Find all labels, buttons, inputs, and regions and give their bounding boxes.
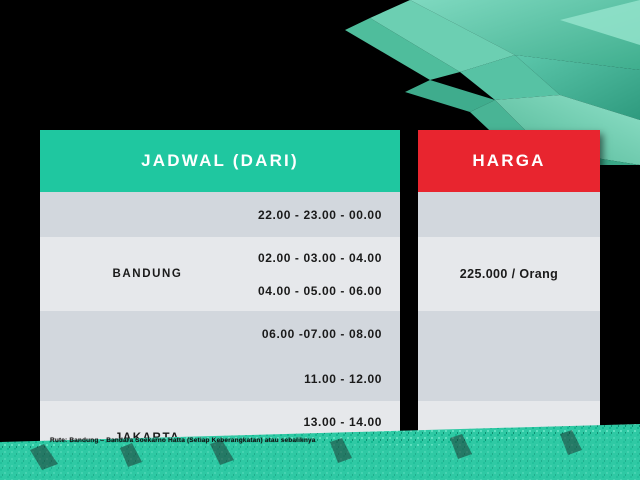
price-row [418, 192, 600, 237]
price-table-header: HARGA [418, 130, 600, 192]
price-table-body: 225.000 / Orang250.000 / Orang [418, 192, 600, 480]
city-label: BANDUNG [40, 268, 255, 280]
table-row: 22.00 - 23.00 - 00.00 [40, 192, 400, 237]
price-row [418, 475, 600, 480]
schedule-time: 15.00 - 16.00 [255, 448, 382, 462]
schedule-board: JADWAL (DARI) 22.00 - 23.00 - 00.00BANDU… [40, 130, 600, 430]
schedule-time: 06.00 -07.00 - 08.00 [255, 327, 382, 341]
price-value: 250.000 / Orang [460, 431, 558, 445]
price-row [418, 356, 600, 401]
schedule-times: 06.00 -07.00 - 08.00 [255, 327, 400, 341]
schedule-table-header: JADWAL (DARI) [40, 130, 400, 192]
price-table: HARGA 225.000 / Orang250.000 / Orang [418, 130, 600, 430]
price-row [418, 311, 600, 356]
schedule-times: 22.00 - 23.00 - 00.00 [255, 208, 400, 222]
schedule-time: 22.00 - 23.00 - 00.00 [255, 208, 382, 222]
table-row: 17.00 - 18.00 [40, 475, 400, 480]
schedule-time: 11.00 - 12.00 [255, 372, 382, 386]
table-row: 06.00 -07.00 - 08.00 [40, 311, 400, 356]
schedule-times: 02.00 - 03.00 - 04.0004.00 - 05.00 - 06.… [255, 251, 400, 298]
price-row: 225.000 / Orang [418, 237, 600, 311]
table-row: BANDUNG02.00 - 03.00 - 04.0004.00 - 05.0… [40, 237, 400, 311]
schedule-time: 04.00 - 05.00 - 06.00 [255, 284, 382, 298]
schedule-time: 13.00 - 14.00 [255, 415, 382, 429]
route-footnote: Rute: Bandung – Bandara Soekarno Hatta (… [50, 437, 315, 444]
table-row: 11.00 - 12.00 [40, 356, 400, 401]
price-row: 250.000 / Orang [418, 401, 600, 475]
schedule-time: 02.00 - 03.00 - 04.00 [255, 251, 382, 265]
price-value: 225.000 / Orang [460, 267, 558, 281]
schedule-times: 11.00 - 12.00 [255, 372, 400, 386]
schedule-table: JADWAL (DARI) 22.00 - 23.00 - 00.00BANDU… [40, 130, 400, 430]
